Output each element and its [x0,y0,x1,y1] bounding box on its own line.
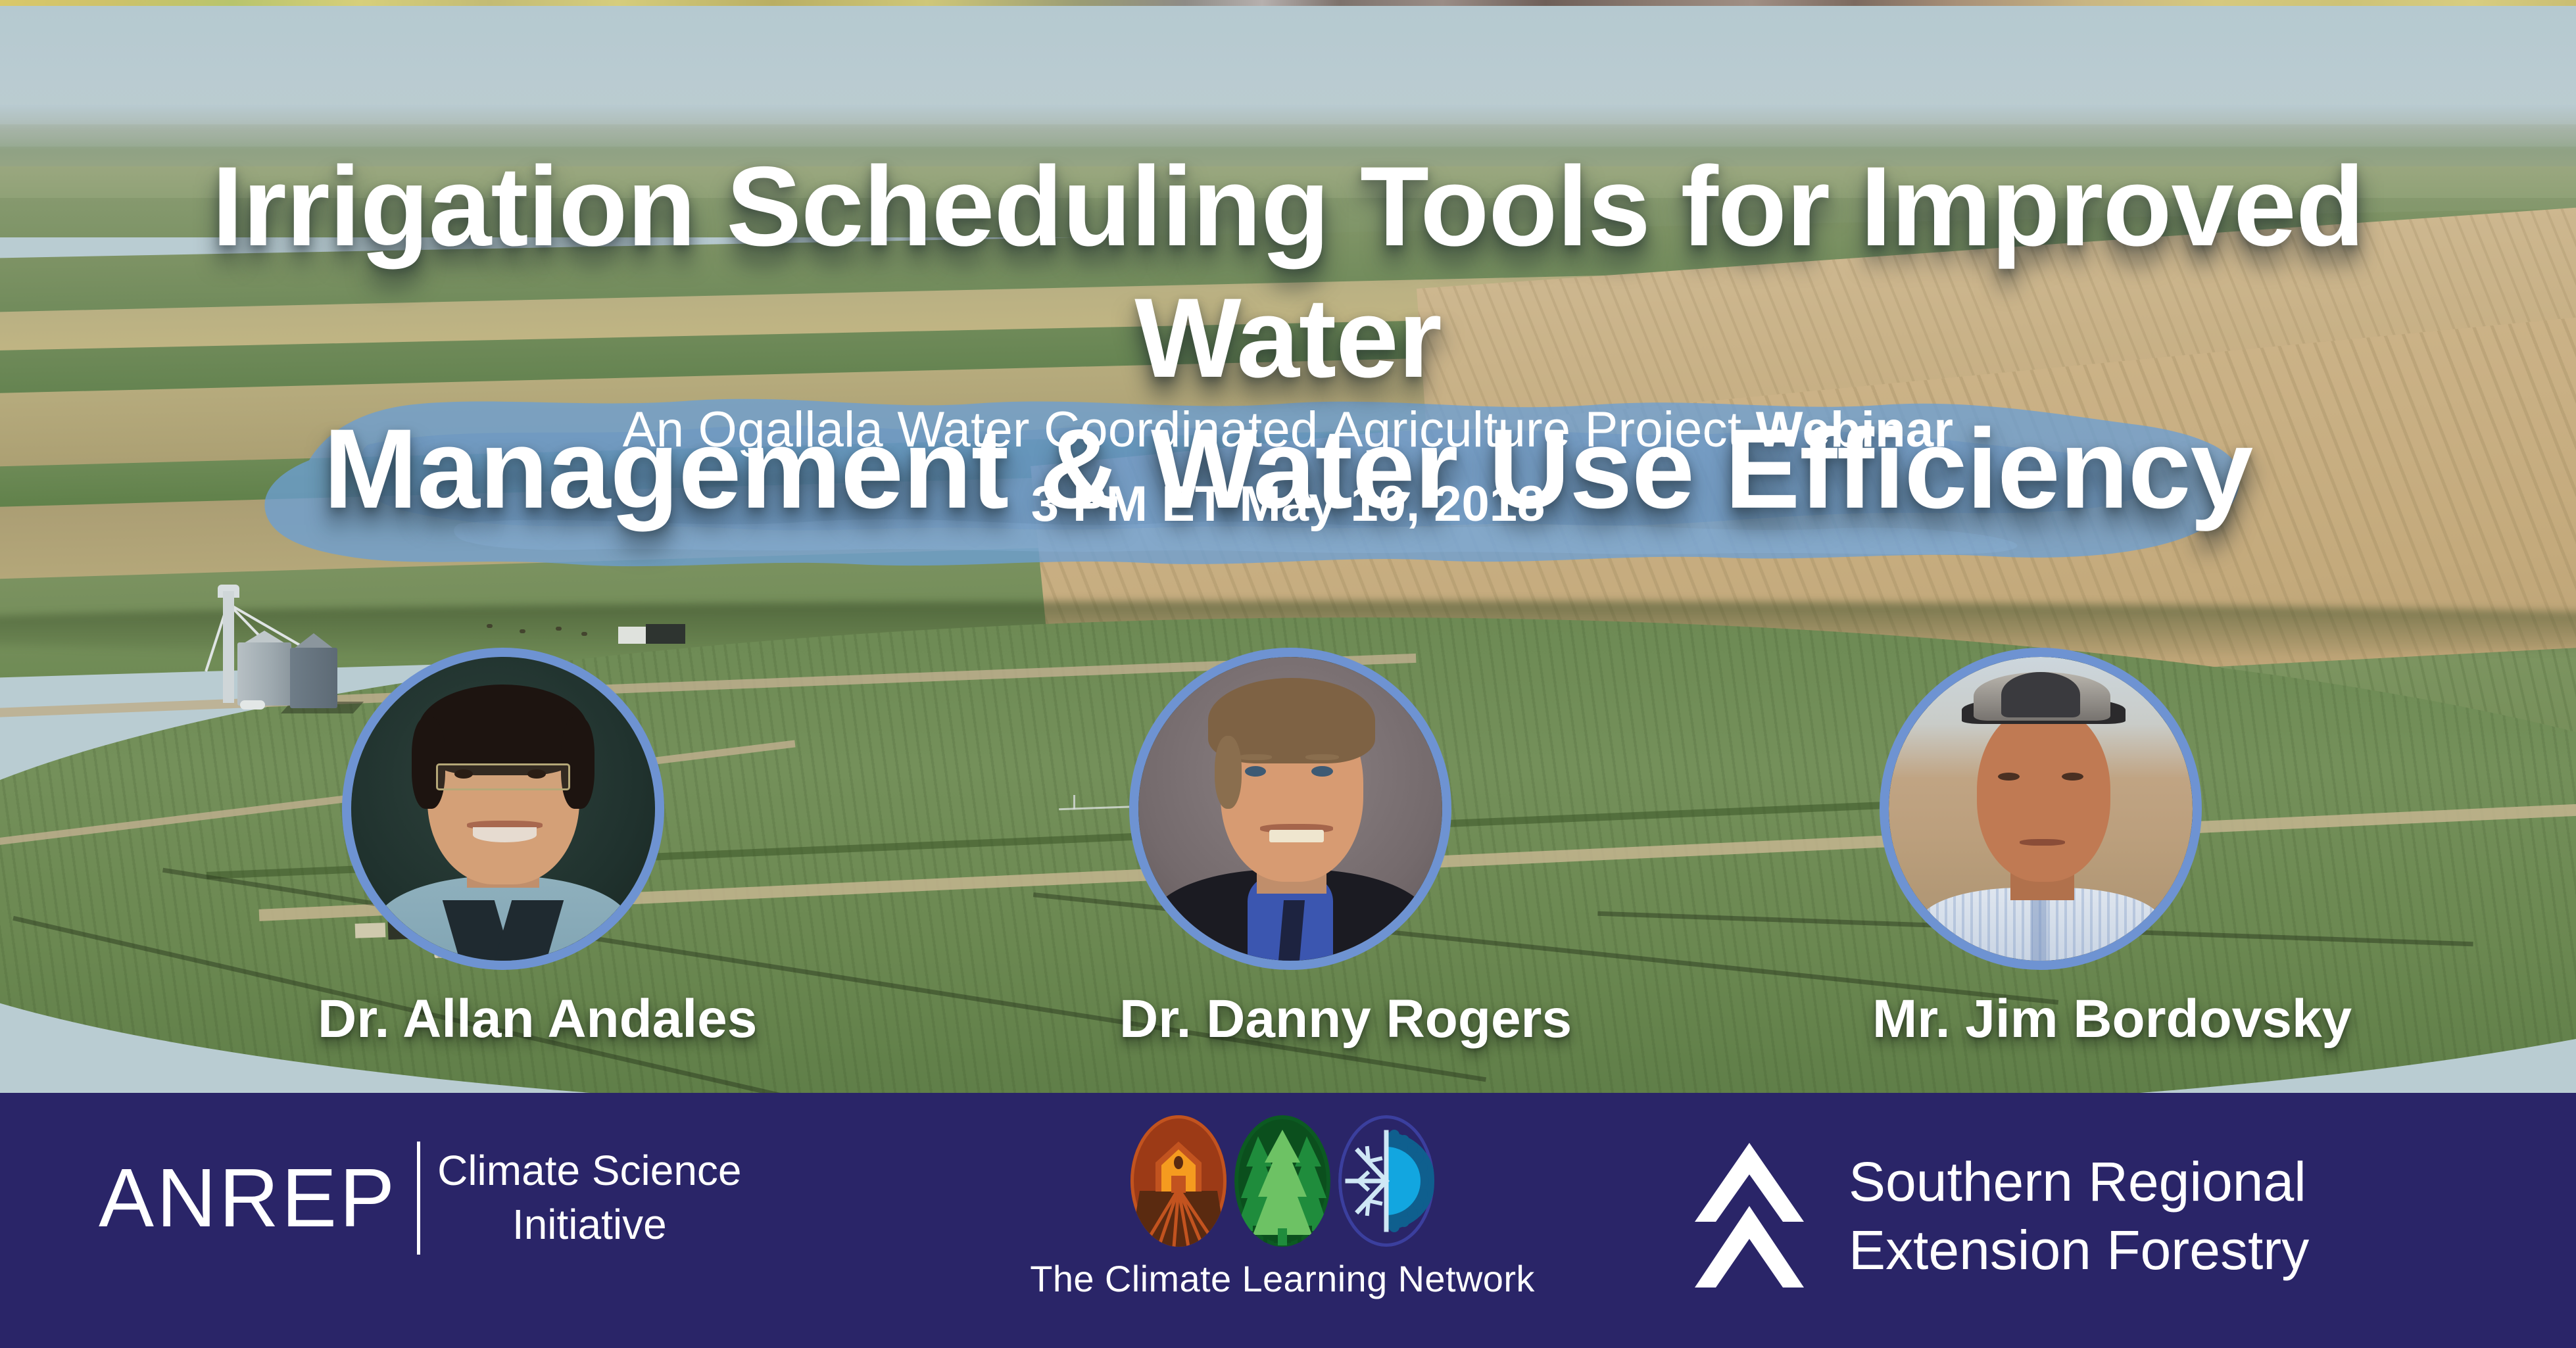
speakers-row: Dr. Allan Andales Dr. Danny Rogers [0,648,2576,1095]
speaker-card-rogers: Dr. Danny Rogers [1119,648,1461,1050]
banner-line-1-prefix: An Ogallala Water Coordinated Agricultur… [623,402,1756,458]
avatar [1129,648,1451,970]
speaker-name: Dr. Allan Andales [318,988,674,1050]
webinar-promo-graphic: Irrigation Scheduling Tools for Improved… [0,0,2576,1348]
banner-line-2: 3 PM ET May 10, 2018 [0,471,2576,539]
southern-regional-extension-forestry-logo[interactable]: Southern Regional Extension Forestry [1687,1140,2309,1291]
banner-line-1: An Ogallala Water Coordinated Agricultur… [0,398,2576,463]
portrait-allan-andales [351,657,655,961]
cln-caption: The Climate Learning Network [960,1257,1605,1300]
speaker-name: Dr. Danny Rogers [1119,988,1461,1050]
cln-icon-row [960,1115,1605,1247]
speaker-card-bordovsky: Mr. Jim Bordovsky [1870,648,2212,1050]
anrep-subtitle-line-2: Initiative [437,1198,741,1252]
banner-line-1-bold: Webinar [1756,402,1954,458]
climate-learning-network-logo[interactable]: The Climate Learning Network [960,1115,1605,1300]
speaker-name: Mr. Jim Bordovsky [1872,988,2212,1050]
speaker-card-andales: Dr. Allan Andales [332,648,674,1050]
top-image-sliver [0,0,2576,6]
farm-shed [618,627,646,644]
cattle [520,629,525,633]
anrep-logo[interactable]: ANREP Climate Science Initiative [99,1142,742,1255]
double-chevron-icon [1687,1140,1812,1291]
banner-text-block: An Ogallala Water Coordinated Agricultur… [0,398,2576,538]
cattle [487,624,493,628]
sref-line-1: Southern Regional [1849,1147,2309,1216]
portrait-danny-rogers [1138,657,1442,961]
footer-logo-bar: ANREP Climate Science Initiative [0,1093,2576,1348]
avatar [342,648,664,970]
snowflake-sun-icon [1338,1115,1434,1247]
anrep-divider [417,1142,420,1255]
cattle [556,627,562,631]
pine-trees-icon [1234,1115,1330,1247]
anrep-subtitle: Climate Science Initiative [437,1144,741,1252]
portrait-jim-bordovsky [1889,657,2193,961]
sref-wordmark: Southern Regional Extension Forestry [1849,1147,2309,1284]
title-line-1: Irrigation Scheduling Tools for Improved… [212,143,2364,401]
farm-shed [646,624,685,644]
sref-line-2: Extension Forestry [1849,1216,2309,1284]
anrep-subtitle-line-1: Climate Science [437,1144,741,1198]
barn-field-icon [1130,1115,1227,1247]
anrep-acronym: ANREP [99,1157,397,1240]
avatar [1880,648,2202,970]
cattle [581,632,587,636]
